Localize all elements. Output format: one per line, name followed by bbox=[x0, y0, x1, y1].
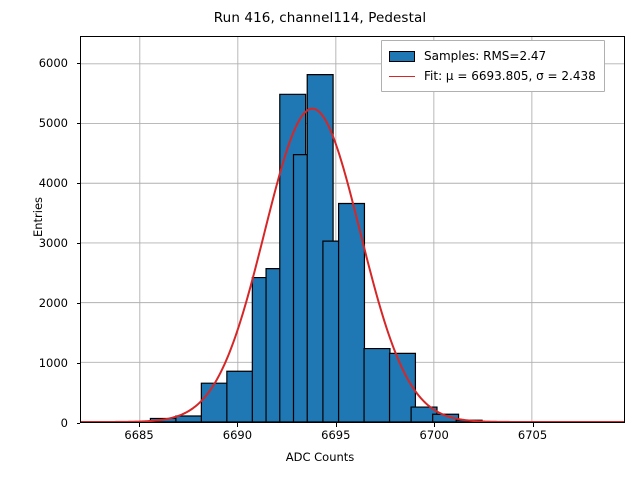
legend-item-fit: Fit: μ = 6693.805, σ = 2.438 bbox=[389, 66, 596, 86]
y-tick-mark bbox=[77, 363, 81, 364]
x-tick-label: 6700 bbox=[420, 428, 449, 442]
y-axis-label: Entries bbox=[31, 157, 45, 277]
y-tick-mark bbox=[77, 243, 81, 244]
y-tick-mark bbox=[77, 303, 81, 304]
fit-line-swatch-icon bbox=[389, 76, 415, 77]
fit-curve-path bbox=[81, 109, 624, 422]
plot-area bbox=[80, 36, 625, 423]
y-tick-label: 1000 bbox=[0, 356, 68, 370]
x-tick-label: 6690 bbox=[223, 428, 252, 442]
x-tick-label: 6685 bbox=[124, 428, 153, 442]
x-tick-mark bbox=[336, 423, 337, 427]
legend-label-samples: Samples: RMS=2.47 bbox=[424, 49, 546, 63]
legend-item-samples: Samples: RMS=2.47 bbox=[389, 46, 596, 66]
gaussian-fit-curve bbox=[81, 37, 624, 422]
x-tick-label: 6705 bbox=[518, 428, 547, 442]
y-tick-label: 2000 bbox=[0, 296, 68, 310]
legend: Samples: RMS=2.47 Fit: μ = 6693.805, σ =… bbox=[381, 40, 605, 92]
y-tick-label: 4000 bbox=[0, 176, 68, 190]
y-tick-label: 6000 bbox=[0, 56, 68, 70]
x-tick-mark bbox=[139, 423, 140, 427]
y-tick-mark bbox=[77, 183, 81, 184]
y-tick-label: 5000 bbox=[0, 116, 68, 130]
x-tick-label: 6695 bbox=[321, 428, 350, 442]
x-tick-mark bbox=[237, 423, 238, 427]
x-axis-label: ADC Counts bbox=[0, 450, 640, 464]
legend-label-fit: Fit: μ = 6693.805, σ = 2.438 bbox=[424, 69, 596, 83]
x-tick-mark bbox=[434, 423, 435, 427]
x-tick-mark bbox=[533, 423, 534, 427]
y-tick-mark bbox=[77, 423, 81, 424]
y-tick-label: 3000 bbox=[0, 236, 68, 250]
y-tick-label: 0 bbox=[0, 416, 68, 430]
y-tick-mark bbox=[77, 63, 81, 64]
chart-title: Run 416, channel114, Pedestal bbox=[0, 10, 640, 26]
histogram-figure: Run 416, channel114, Pedestal Entries AD… bbox=[0, 0, 640, 480]
samples-swatch-icon bbox=[389, 51, 415, 62]
y-tick-mark bbox=[77, 123, 81, 124]
